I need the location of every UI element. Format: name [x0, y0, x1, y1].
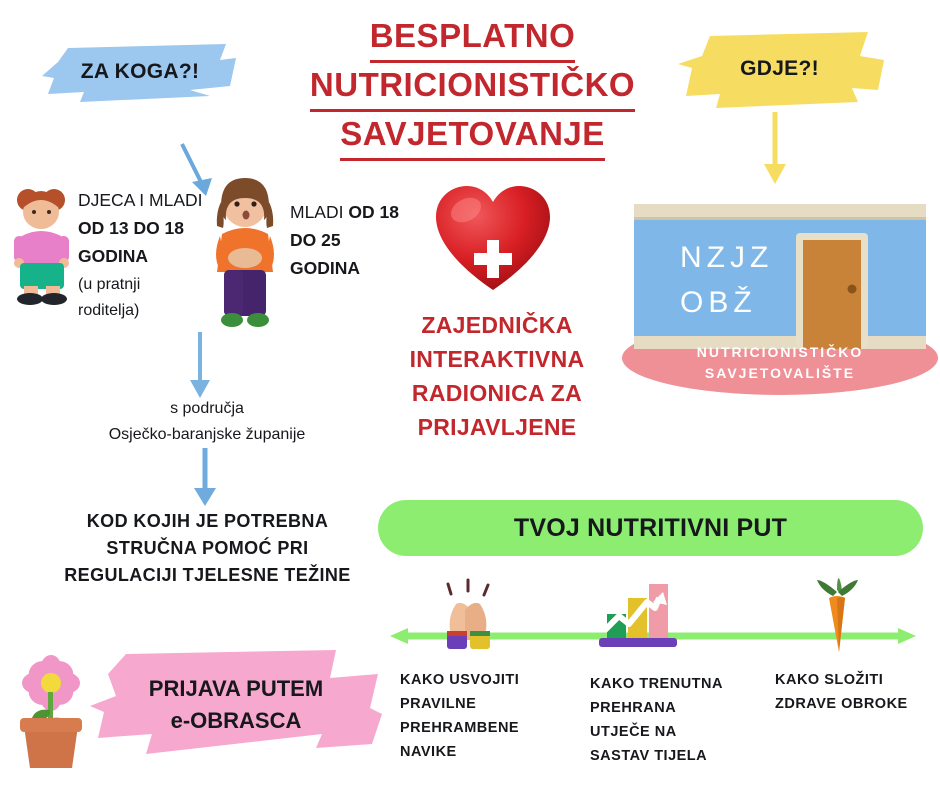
door-knob: [848, 285, 857, 294]
badge-prijava: PRIJAVA PUTEM e-OBRASCA: [86, 648, 386, 758]
org-abbreviation: NZJZ OBŽ: [680, 235, 840, 325]
prijava-line-1: PRIJAVA PUTEM: [86, 673, 386, 705]
audience-youth-text: MLADI OD 18 DO 25 GODINA: [290, 198, 410, 282]
title-line-1: BESPLATNO: [370, 14, 576, 63]
badge-za-koga: ZA KOGA?!: [40, 40, 240, 110]
journey-step-caption-1: KAKO USVOJITI PRAVILNE PREHRAMBENE NAVIK…: [400, 668, 550, 764]
building-caption-line-1: NUTRICIONISTIČKO: [650, 342, 910, 363]
audience-need-text: KOD KOJIH JE POTREBNA STRUČNA POMOĆ PRI …: [60, 508, 355, 589]
journey-heading-label: TVOJ NUTRITIVNI PUT: [378, 514, 923, 543]
org-line-1: NZJZ: [680, 235, 840, 280]
building-roof-trim: [634, 204, 926, 217]
blue-vertical-arrow-icon-2: [190, 448, 220, 510]
carrot-icon: [812, 578, 862, 656]
children-plain-2: MLADI: [149, 190, 202, 210]
title-line-3: SAVJETOVANJE: [340, 112, 605, 161]
journey-heading-pill: TVOJ NUTRITIVNI PUT: [378, 500, 923, 556]
youth-plain: MLADI: [290, 202, 348, 222]
children-plain-1: DJECA I: [78, 190, 144, 210]
badge-gdje-label: GDJE?!: [672, 57, 887, 81]
arrow-left-head: [390, 628, 408, 644]
region-text: s područja Osječko-baranjske županije: [62, 396, 352, 448]
blue-vertical-arrow-icon-1: [185, 330, 215, 402]
region-line-1: s područja: [62, 396, 352, 422]
arrow-right-head: [898, 628, 916, 644]
heart-plus-icon: [432, 182, 554, 298]
children-strong: OD 13 DO 18 GODINA: [78, 218, 184, 266]
badge-prijava-label: PRIJAVA PUTEM e-OBRASCA: [86, 673, 386, 737]
chart-base: [599, 638, 677, 647]
journey-step-caption-2: KAKO TRENUTNA PREHRANA UTJEČE NA SASTAV …: [590, 672, 740, 768]
audience-children-text: DJECA I MLADI OD 13 DO 18 GODINA (u prat…: [78, 186, 203, 324]
building-caption-line-2: SAVJETOVALIŠTE: [650, 363, 910, 384]
journey-step-caption-3: KAKO SLOŽITI ZDRAVE OBROKE: [775, 668, 935, 716]
region-line-2: Osječko-baranjske županije: [62, 422, 352, 448]
page-title: BESPLATNO NUTRICIONISTIČKO SAVJETOVANJE: [300, 14, 645, 161]
bar-chart-icon: [595, 572, 681, 652]
poster-canvas: BESPLATNO NUTRICIONISTIČKO SAVJETOVANJE …: [0, 0, 940, 788]
badge-za-koga-label: ZA KOGA?!: [40, 60, 240, 84]
org-line-2: OBŽ: [680, 280, 840, 325]
bar-pink: [649, 584, 668, 640]
prijava-line-2: e-OBRASCA: [86, 705, 386, 737]
title-line-2: NUTRICIONISTIČKO: [310, 63, 635, 112]
badge-gdje: GDJE?!: [672, 30, 887, 112]
children-note: (u pratnji roditelja): [78, 272, 203, 324]
clapping-hands-icon: [432, 578, 504, 654]
location-building-illustration: NZJZ OBŽ NUTRICIONISTIČKO SAVJETOVALIŠTE: [620, 190, 940, 395]
yellow-vertical-arrow-icon: [760, 112, 790, 188]
workshop-text: ZAJEDNIČKA INTERAKTIVNA RADIONICA ZA PRI…: [392, 308, 602, 444]
woman-figure-icon: [200, 172, 290, 334]
girl-figure-icon: [6, 178, 78, 306]
potted-flower-icon: [8, 648, 94, 778]
building-caption: NUTRICIONISTIČKO SAVJETOVALIŠTE: [650, 342, 910, 384]
